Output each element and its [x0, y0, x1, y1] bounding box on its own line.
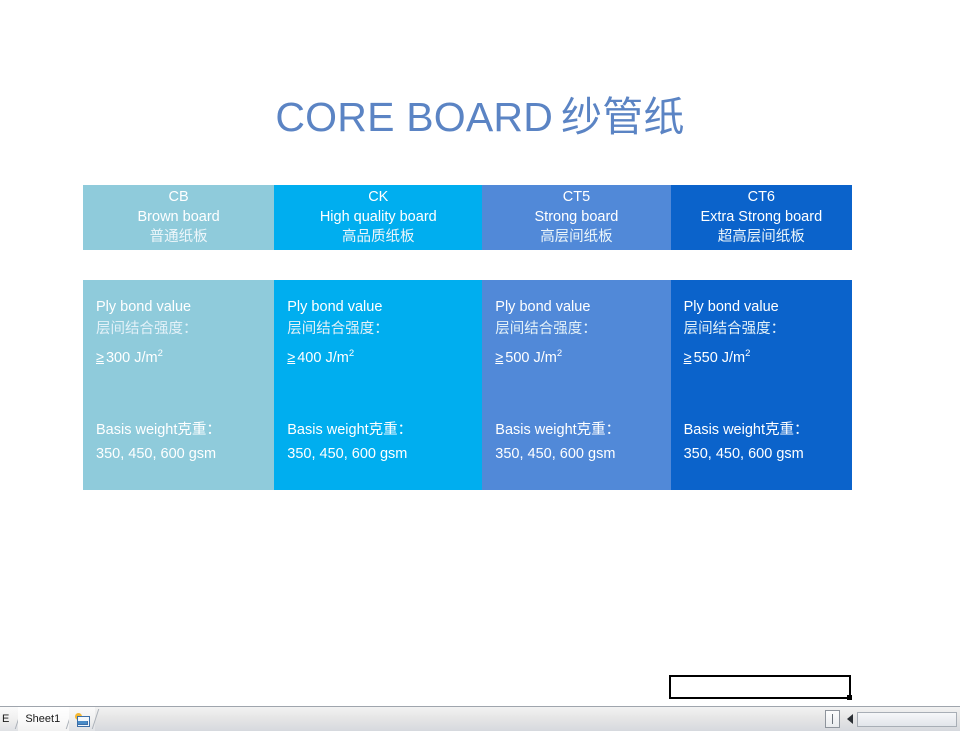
- basis-weight-label: Basis weight克重：: [684, 419, 852, 441]
- greater-equal-symbol: ≥: [287, 350, 295, 366]
- basis-weight-value: 350, 450, 600 gsm: [96, 443, 274, 465]
- split-handle-icon[interactable]: [825, 710, 840, 728]
- ply-bond-value: ≥550 J/m2: [684, 347, 852, 369]
- grade-header-ck: CK High quality board 高品质纸板: [274, 185, 482, 250]
- ply-bond-spec: Ply bond value 层间结合强度： ≥400 J/m2: [287, 296, 482, 369]
- basis-weight-label: Basis weight克重：: [495, 419, 670, 441]
- grade-body-ct6: Ply bond value 层间结合强度： ≥550 J/m2 Basis w…: [671, 280, 852, 490]
- ply-bond-spec: Ply bond value 层间结合强度： ≥550 J/m2: [684, 296, 852, 369]
- ply-bond-number: 550 J/m: [694, 350, 746, 366]
- grade-table-body-row: Ply bond value 层间结合强度： ≥300 J/m2 Basis w…: [83, 280, 852, 490]
- horizontal-scrollbar[interactable]: [857, 712, 957, 727]
- ply-bond-label-en: Ply bond value: [96, 296, 274, 318]
- ply-bond-exponent: 2: [158, 348, 163, 359]
- basis-weight-spec: Basis weight克重： 350, 450, 600 gsm: [96, 419, 274, 465]
- grade-code: CB: [169, 187, 189, 207]
- page-title-latin: CORE BOARD: [275, 94, 553, 140]
- ply-bond-spec: Ply bond value 层间结合强度： ≥500 J/m2: [495, 296, 670, 369]
- ply-bond-label-en: Ply bond value: [287, 296, 482, 318]
- ply-bond-exponent: 2: [349, 348, 354, 359]
- grade-name-cn: 超高层间纸板: [718, 227, 805, 247]
- grade-name-en: Brown board: [138, 207, 220, 227]
- grade-header-ct6: CT6 Extra Strong board 超高层间纸板: [671, 185, 852, 250]
- ply-bond-label-en: Ply bond value: [495, 296, 670, 318]
- page-title-cjk: 纱管纸: [553, 94, 685, 140]
- ply-bond-label-en: Ply bond value: [684, 296, 852, 318]
- sheet-tab-e[interactable]: E: [0, 707, 18, 731]
- sheet-tab-strip: E Sheet1: [0, 707, 95, 731]
- grade-name-cn: 高层间纸板: [540, 227, 613, 247]
- grade-name-en: Extra Strong board: [700, 207, 822, 227]
- ply-bond-label-cn: 层间结合强度：: [287, 318, 482, 340]
- ply-bond-value: ≥400 J/m2: [287, 347, 482, 369]
- scroll-left-arrow-icon[interactable]: [842, 711, 857, 727]
- ply-bond-number: 500 J/m: [505, 350, 557, 366]
- page-title: CORE BOARD纱管纸: [0, 92, 960, 142]
- basis-weight-value: 350, 450, 600 gsm: [684, 443, 852, 465]
- grade-name-cn: 高品质纸板: [342, 227, 415, 247]
- grade-body-ct5: Ply bond value 层间结合强度： ≥500 J/m2 Basis w…: [482, 280, 670, 490]
- grade-name-cn: 普通纸板: [150, 227, 208, 247]
- new-sheet-icon: [75, 713, 90, 726]
- grade-code: CK: [368, 187, 388, 207]
- basis-weight-spec: Basis weight克重： 350, 450, 600 gsm: [684, 419, 852, 465]
- grade-header-ct5: CT5 Strong board 高层间纸板: [482, 185, 670, 250]
- sheet-tab-bar: E Sheet1: [0, 706, 960, 731]
- ply-bond-spec: Ply bond value 层间结合强度： ≥300 J/m2: [96, 296, 274, 369]
- ply-bond-value: ≥500 J/m2: [495, 347, 670, 369]
- greater-equal-symbol: ≥: [96, 350, 104, 366]
- basis-weight-label: Basis weight克重：: [287, 419, 482, 441]
- grade-name-en: High quality board: [320, 207, 437, 227]
- ply-bond-number: 400 J/m: [297, 350, 349, 366]
- ply-bond-value: ≥300 J/m2: [96, 347, 274, 369]
- horizontal-scroll-zone: [825, 707, 960, 731]
- grade-body-cb: Ply bond value 层间结合强度： ≥300 J/m2 Basis w…: [83, 280, 274, 490]
- sheet-tab-sheet1[interactable]: Sheet1: [18, 707, 69, 731]
- greater-equal-symbol: ≥: [684, 350, 692, 366]
- ply-bond-exponent: 2: [745, 348, 750, 359]
- grade-comparison-table: CB Brown board 普通纸板 CK High quality boar…: [83, 185, 852, 490]
- ply-bond-label-cn: 层间结合强度：: [96, 318, 274, 340]
- selected-cell-range[interactable]: [669, 675, 851, 699]
- ply-bond-label-cn: 层间结合强度：: [684, 318, 852, 340]
- ply-bond-label-cn: 层间结合强度：: [495, 318, 670, 340]
- basis-weight-spec: Basis weight克重： 350, 450, 600 gsm: [287, 419, 482, 465]
- sheet-tab-empty-area: [95, 707, 825, 731]
- slide-canvas: CORE BOARD纱管纸 CB Brown board 普通纸板 CK Hig…: [0, 0, 960, 706]
- grade-name-en: Strong board: [535, 207, 619, 227]
- grade-header-cb: CB Brown board 普通纸板: [83, 185, 274, 250]
- fill-handle[interactable]: [847, 695, 852, 700]
- ply-bond-number: 300 J/m: [106, 350, 158, 366]
- basis-weight-label: Basis weight克重：: [96, 419, 274, 441]
- ply-bond-exponent: 2: [557, 348, 562, 359]
- grade-code: CT5: [563, 187, 590, 207]
- basis-weight-value: 350, 450, 600 gsm: [495, 443, 670, 465]
- grade-body-ck: Ply bond value 层间结合强度： ≥400 J/m2 Basis w…: [274, 280, 482, 490]
- basis-weight-value: 350, 450, 600 gsm: [287, 443, 482, 465]
- new-sheet-button[interactable]: [69, 707, 95, 731]
- grade-table-header-row: CB Brown board 普通纸板 CK High quality boar…: [83, 185, 852, 250]
- greater-equal-symbol: ≥: [495, 350, 503, 366]
- grade-code: CT6: [748, 187, 775, 207]
- basis-weight-spec: Basis weight克重： 350, 450, 600 gsm: [495, 419, 670, 465]
